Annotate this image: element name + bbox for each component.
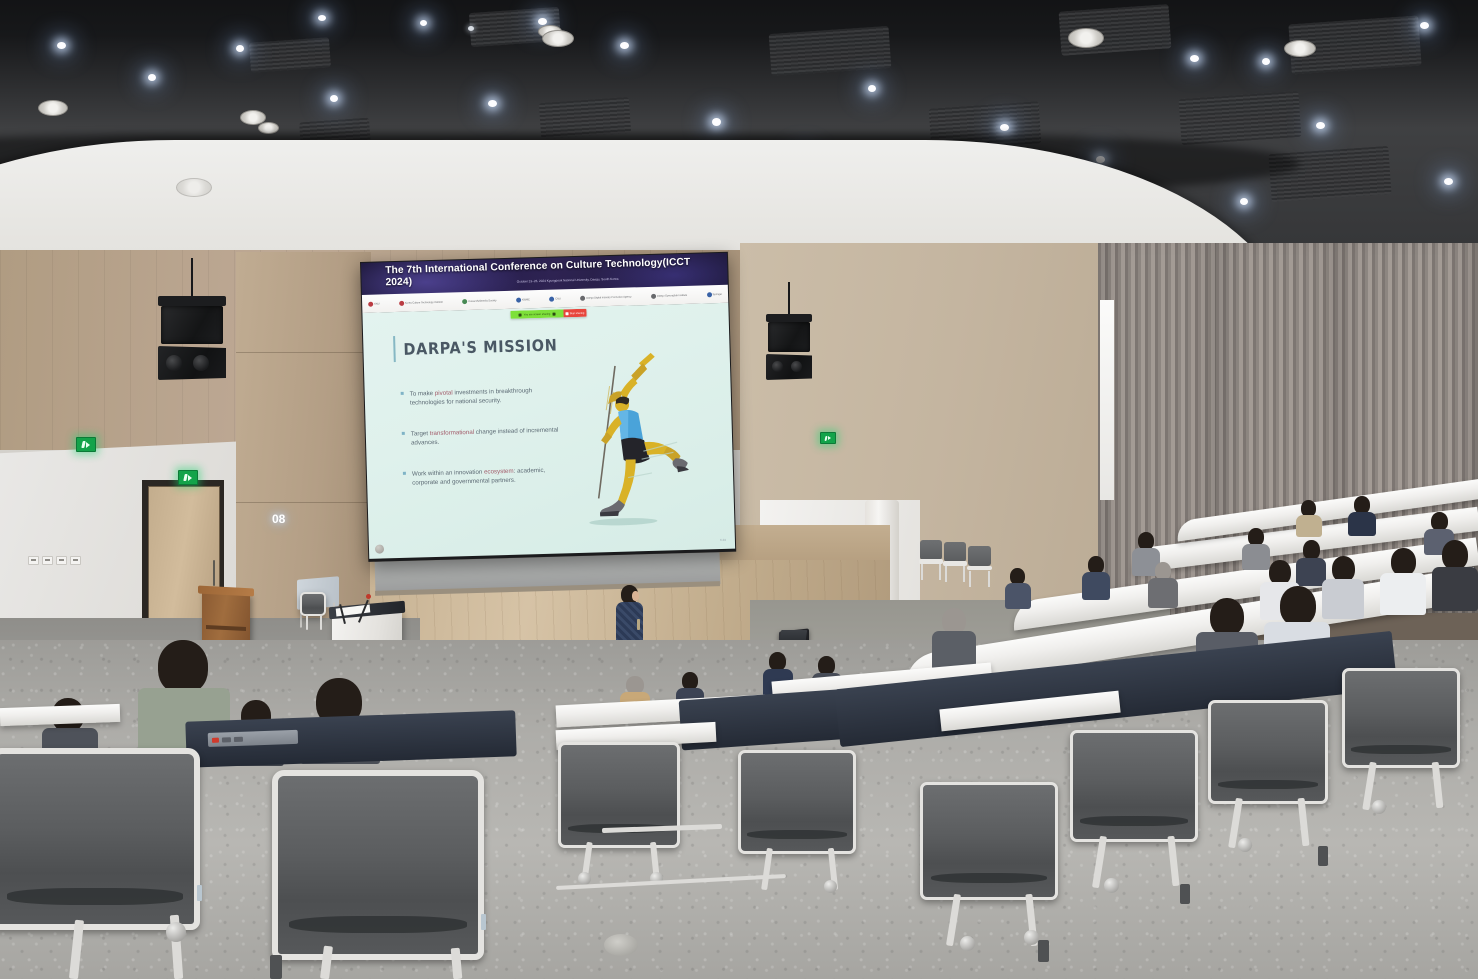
speaker-cone-icon	[193, 355, 209, 371]
sponsor-logo: Daegu Gyeongbuk Institute	[651, 291, 687, 299]
chair-tag	[481, 914, 486, 930]
audience-member	[1296, 500, 1322, 534]
chair-caster	[1372, 800, 1386, 814]
stop-icon	[566, 312, 569, 315]
person-head	[1210, 598, 1244, 636]
speaker-cone-icon	[772, 361, 783, 372]
sponsor-name: KNU	[374, 302, 379, 305]
audience-member	[1432, 540, 1478, 604]
sponsor-mark-icon	[516, 297, 521, 302]
wall-outlets[interactable]	[28, 556, 81, 565]
sponsor-logo: Korea Multimedia Society	[462, 297, 496, 305]
bullet-seg: Work within an innovation	[412, 468, 484, 477]
speaker-mount-rod	[191, 258, 193, 300]
ceiling-spotlight	[330, 95, 338, 102]
sponsor-logo: Daegu Digital Industry Promotion Agency	[580, 293, 632, 301]
speaker-cabinet	[161, 306, 224, 344]
control-key[interactable]	[222, 737, 231, 742]
ceiling-speaker	[258, 122, 279, 134]
sponsor-mark-icon	[651, 293, 656, 298]
sharing-message: You are screen sharing	[524, 312, 551, 316]
chair-leg	[306, 614, 308, 630]
chair-foot	[270, 955, 282, 979]
chair-leg	[945, 566, 947, 582]
ceiling-spotlight	[868, 85, 876, 92]
chair-caster	[1104, 878, 1119, 893]
ceiling-vent	[249, 37, 331, 73]
chair-caster	[1238, 838, 1252, 852]
chair-leg	[320, 614, 322, 630]
ceiling-spotlight	[1240, 198, 1248, 205]
folding-chair[interactable]	[920, 540, 942, 574]
chair-lumbar	[1218, 780, 1319, 789]
bullet-seg-highlight: ecosystem	[484, 467, 514, 475]
ceiling-vent	[539, 97, 631, 139]
chair-back	[920, 540, 942, 560]
ceiling-speaker	[542, 30, 574, 47]
curtain-light-strip	[1100, 300, 1114, 500]
chair-foot	[1318, 846, 1328, 866]
sponsor-name: Korea Multimedia Society	[468, 299, 496, 303]
door-number-digit: 08	[272, 512, 285, 526]
speaker-cabinet	[158, 346, 226, 380]
person-torso	[1380, 573, 1426, 615]
door-handle[interactable]	[213, 560, 215, 586]
chair-caster	[166, 922, 186, 942]
share-indicator-icon	[552, 312, 555, 315]
exit-sign	[76, 437, 96, 452]
auditorium-chair[interactable]	[1208, 700, 1328, 804]
person-torso	[1296, 515, 1322, 537]
speaker-yoke	[766, 314, 812, 322]
sharing-status: You are screen sharing	[510, 309, 563, 318]
person-head	[1442, 540, 1468, 570]
bullet-dot-icon	[403, 471, 406, 474]
folding-chair[interactable]	[944, 542, 966, 576]
speaker-cabinet	[768, 322, 810, 352]
bullet-seg: To make	[410, 390, 435, 398]
javelin-thrower-illustration	[579, 346, 696, 529]
sponsor-name: Korea Culture Technology Institute	[405, 300, 443, 304]
ceiling-spotlight	[1000, 124, 1009, 131]
audience-member	[1148, 562, 1178, 604]
audience-member	[1380, 548, 1426, 610]
audience-member	[1082, 556, 1110, 596]
chair-leg	[963, 566, 965, 582]
auditorium-chair[interactable]	[1342, 668, 1460, 768]
ceiling-spotlight	[148, 74, 156, 81]
person-head	[1303, 540, 1320, 560]
ceiling-spotlight	[468, 26, 474, 31]
ceiling-speaker	[1284, 40, 1316, 57]
speaker-cone-icon	[791, 361, 802, 372]
control-key[interactable]	[234, 736, 243, 741]
exit-sign	[178, 470, 198, 485]
ceiling-spotlight	[236, 45, 244, 52]
chair-seat	[967, 566, 993, 571]
chair-lumbar	[7, 888, 183, 904]
ceiling-speaker	[176, 178, 212, 197]
chair-leg	[921, 564, 923, 580]
bullet-dot-icon	[401, 392, 404, 395]
person-torso	[1082, 572, 1110, 600]
person-torso	[1148, 578, 1178, 608]
speaker-cone-icon	[166, 355, 182, 371]
ceiling-spotlight	[1190, 55, 1199, 62]
sponsor-logo: Korea Culture Technology Institute	[399, 298, 443, 306]
sponsor-logo: CNU	[549, 295, 561, 302]
presenter-face	[632, 591, 639, 601]
bullet-seg-highlight: pivotal	[435, 389, 453, 396]
ceiling-spotlight	[712, 118, 721, 126]
bullet-seg: Target	[411, 430, 430, 438]
slide-bullets: To make pivotal investments in breakthro…	[410, 385, 563, 509]
chair-lumbar	[1080, 816, 1188, 826]
ceiling-spotlight	[620, 42, 629, 49]
sponsor-mark-icon	[462, 299, 467, 304]
chair-leg	[939, 564, 941, 580]
ceiling-vent	[1179, 91, 1302, 145]
ceiling-spotlight	[1444, 178, 1453, 185]
chair-back	[300, 592, 326, 616]
audience-member	[1348, 496, 1376, 532]
sponsor-name: Daegu Digital Industry Promotion Agency	[586, 295, 631, 299]
exit-arrow-icon	[188, 475, 192, 481]
exit-arrow-icon	[86, 442, 90, 448]
stage-chair[interactable]	[300, 592, 326, 616]
microphone-head-icon	[366, 594, 371, 599]
chair-lumbar	[289, 916, 467, 933]
power-led-icon	[212, 737, 219, 742]
auditorium-chair[interactable]	[920, 782, 1058, 900]
line-array-speaker-left	[158, 258, 226, 428]
sponsor-logo: Springer	[707, 290, 723, 297]
bullet-dot-icon	[402, 432, 405, 435]
audience-member	[1005, 568, 1031, 606]
chair-back	[944, 542, 966, 562]
chair-caster	[824, 880, 837, 893]
auditorium-chair[interactable]	[1070, 730, 1198, 842]
stop-sharing-label: Stop sharing	[570, 311, 585, 314]
sponsor-logo: KIBME	[516, 296, 530, 303]
chair-caster	[1024, 930, 1039, 945]
ceiling-spotlight	[420, 20, 427, 26]
chair-back	[968, 546, 991, 566]
projection-screen: The 7th International Conference on Cult…	[360, 252, 736, 562]
chair-foot	[1038, 940, 1049, 962]
person-head	[1391, 548, 1416, 576]
door-number: 08	[272, 512, 285, 526]
chair-caster	[578, 872, 591, 885]
chair-lumbar	[1351, 745, 1450, 754]
line-array-speaker-right	[766, 282, 812, 416]
slide-canvas: You are screen sharing Stop sharing DARP…	[362, 303, 735, 559]
auditorium-chair[interactable]	[0, 748, 200, 930]
slide-title-accent-bar	[393, 336, 396, 362]
folding-chair[interactable]	[968, 546, 991, 581]
desk-control-panel[interactable]	[208, 730, 298, 747]
person-head	[158, 640, 208, 694]
sponsor-name: Daegu Gyeongbuk Institute	[657, 293, 687, 297]
stop-sharing-button[interactable]: Stop sharing	[563, 309, 586, 318]
sponsor-mark-icon	[707, 292, 712, 297]
outlet[interactable]	[42, 556, 53, 565]
exit-sign	[820, 432, 836, 444]
person-torso	[1348, 512, 1376, 536]
presenter-microphone	[637, 619, 640, 630]
outlet[interactable]	[56, 556, 67, 565]
sponsor-mark-icon	[549, 296, 554, 301]
sponsor-name: KIBME	[522, 298, 530, 301]
ceiling-spotlight	[57, 42, 66, 49]
lectern-shelf	[206, 625, 246, 631]
slide-page-number: 6.23	[720, 538, 726, 542]
ceiling-spotlight	[1262, 58, 1270, 65]
ceiling-spotlight	[538, 18, 547, 25]
bullet-seg-highlight: transformational	[430, 429, 475, 437]
ceiling-vent	[769, 26, 892, 76]
ceiling-spotlight	[1420, 22, 1429, 29]
sponsor-mark-icon	[399, 300, 404, 305]
ceiling-spotlight	[488, 100, 497, 107]
slide-bullet: Target transformational change instead o…	[411, 425, 561, 448]
person-torso	[1432, 567, 1478, 611]
chair-lumbar	[931, 873, 1047, 884]
exit-arrow-icon	[828, 436, 831, 440]
audience-member	[932, 608, 976, 666]
sponsor-mark-icon	[368, 301, 373, 306]
chair-lumbar	[747, 830, 846, 839]
banner-title: The 7th International Conference on Cult…	[385, 256, 716, 289]
sponsor-mark-icon	[580, 295, 585, 300]
slide-bullet: Work within an innovation ecosystem: aca…	[412, 465, 562, 488]
ceiling-speaker	[38, 100, 68, 116]
share-icon	[519, 313, 522, 316]
chair-caster	[960, 936, 975, 951]
speaker-yoke	[158, 296, 226, 306]
screen-corner-fitting	[375, 544, 384, 553]
chair-leg	[969, 571, 971, 587]
auditorium-photo: 08 The 7th International Conference on C…	[0, 0, 1478, 979]
auditorium-chair[interactable]	[272, 770, 484, 960]
sponsor-name: Springer	[713, 292, 722, 295]
ceiling-speaker	[1068, 28, 1104, 48]
ceiling-spotlight	[1316, 122, 1325, 129]
lectern-top	[198, 586, 254, 597]
speaker-cabinet	[766, 354, 812, 380]
chair-leg	[988, 571, 990, 587]
auditorium-chair[interactable]	[738, 750, 856, 854]
outlet[interactable]	[70, 556, 81, 565]
slide-title: DARPA'S MISSION	[403, 336, 557, 359]
chair-tag	[197, 885, 202, 901]
chair-foot	[1180, 884, 1190, 904]
person-torso	[1005, 583, 1031, 609]
sponsor-name: CNU	[555, 297, 561, 300]
slide-bullet: To make pivotal investments in breakthro…	[410, 385, 560, 408]
ceiling-spotlight	[318, 15, 326, 21]
person-head	[1280, 586, 1316, 626]
screen-share-notification: You are screen sharing Stop sharing	[510, 309, 586, 319]
outlet[interactable]	[28, 556, 39, 565]
floor-drain-cover	[604, 934, 638, 956]
sponsor-logo: KNU	[368, 300, 380, 307]
ceiling-vent	[1268, 146, 1391, 202]
